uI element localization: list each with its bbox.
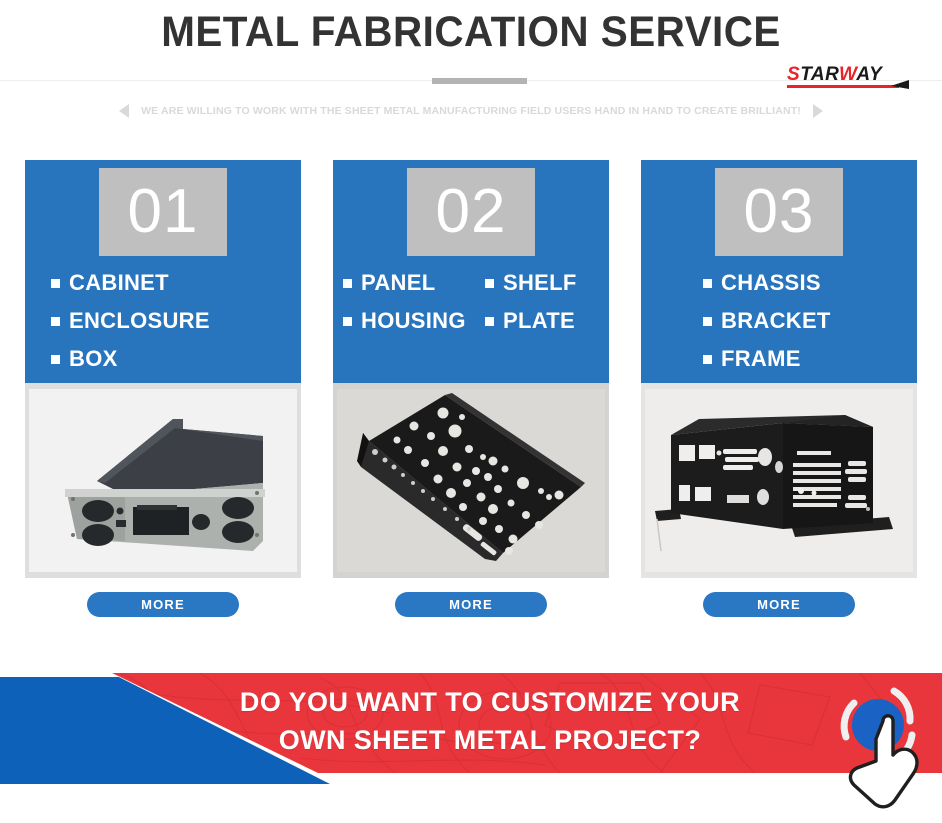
arrow-right-icon[interactable] — [813, 104, 823, 118]
feature-label: BOX — [69, 346, 118, 372]
bullet-icon — [703, 317, 712, 326]
page-root: METAL FABRICATION SERVICE STARWAY WE ARE… — [0, 0, 942, 823]
bullet-icon — [703, 355, 712, 364]
header-divider-accent — [432, 78, 527, 84]
more-button-03[interactable]: MORE — [703, 592, 855, 617]
bullet-icon — [703, 279, 712, 288]
tagline-text: WE ARE WILLING TO WORK WITH THE SHEET ME… — [141, 105, 801, 117]
page-title: METAL FABRICATION SERVICE — [28, 8, 913, 57]
card-header-01: 01 CABINET ENCLOSURE — [25, 160, 301, 383]
feature-column: CABINET ENCLOSURE BOX — [51, 264, 210, 378]
card-features-02: PANEL HOUSING SHELF — [333, 264, 609, 340]
card-number-badge-01: 01 — [99, 168, 227, 256]
feature-label: HOUSING — [361, 308, 466, 334]
feature-column: CHASSIS BRACKET FRAME — [703, 264, 831, 378]
list-item: PLATE — [485, 302, 577, 340]
bullet-icon — [343, 317, 352, 326]
card-number-03: 03 — [744, 181, 815, 243]
card-more-row-02: MORE — [333, 578, 609, 630]
logo-letter-s: S — [787, 64, 800, 85]
list-item: HOUSING — [343, 302, 485, 340]
feature-label: BRACKET — [721, 308, 831, 334]
feature-label: PLATE — [503, 308, 575, 334]
card-header-03: 03 CHASSIS BRACKET — [641, 160, 917, 383]
feature-label: CABINET — [69, 270, 169, 296]
feature-label: CHASSIS — [721, 270, 821, 296]
list-item: SHELF — [485, 264, 577, 302]
service-card-02: 02 PANEL HOUSING — [333, 160, 609, 630]
brand-logo: STARWAY — [787, 65, 912, 91]
list-item: FRAME — [703, 340, 831, 378]
click-hand-icon[interactable] — [832, 673, 942, 823]
card-number-01: 01 — [128, 181, 199, 243]
logo-letter-w: W — [839, 64, 856, 85]
tagline-bar: WE ARE WILLING TO WORK WITH THE SHEET ME… — [0, 101, 942, 121]
service-card-03: 03 CHASSIS BRACKET — [641, 160, 917, 630]
logo-letters-ay: AY — [856, 64, 882, 85]
bullet-icon — [51, 279, 60, 288]
service-cards: 01 CABINET ENCLOSURE — [25, 160, 917, 630]
more-button-01[interactable]: MORE — [87, 592, 239, 617]
card-more-row-01: MORE — [25, 578, 301, 630]
feature-label: ENCLOSURE — [69, 308, 210, 334]
feature-column: PANEL HOUSING — [343, 264, 485, 340]
list-item: CABINET — [51, 264, 210, 302]
arrow-left-icon[interactable] — [119, 104, 129, 118]
bullet-icon — [51, 355, 60, 364]
service-card-01: 01 CABINET ENCLOSURE — [25, 160, 301, 630]
product-photo-panel — [333, 383, 609, 578]
list-item: PANEL — [343, 264, 485, 302]
feature-label: PANEL — [361, 270, 435, 296]
list-item: CHASSIS — [703, 264, 831, 302]
list-item: BRACKET — [703, 302, 831, 340]
brand-logo-text: STARWAY — [787, 65, 912, 85]
card-features-03: CHASSIS BRACKET FRAME — [641, 264, 917, 378]
card-product-image-03 — [641, 383, 917, 578]
feature-label: FRAME — [721, 346, 801, 372]
cta-banner[interactable]: DO YOU WANT TO CUSTOMIZE YOUR OWN SHEET … — [0, 655, 942, 823]
cta-text: DO YOU WANT TO CUSTOMIZE YOUR OWN SHEET … — [150, 683, 830, 759]
card-product-image-02 — [333, 383, 609, 578]
product-photo-cabinet — [25, 383, 301, 578]
cta-line-1: DO YOU WANT TO CUSTOMIZE YOUR — [150, 683, 830, 721]
card-number-badge-02: 02 — [407, 168, 535, 256]
more-button-02[interactable]: MORE — [395, 592, 547, 617]
feature-label: SHELF — [503, 270, 577, 296]
card-number-02: 02 — [436, 181, 507, 243]
card-header-02: 02 PANEL HOUSING — [333, 160, 609, 383]
card-more-row-03: MORE — [641, 578, 917, 630]
bullet-icon — [485, 317, 494, 326]
bullet-icon — [343, 279, 352, 288]
list-item: BOX — [51, 340, 210, 378]
card-number-badge-03: 03 — [715, 168, 843, 256]
logo-letters-tar: TAR — [800, 64, 839, 85]
list-item: ENCLOSURE — [51, 302, 210, 340]
card-features-01: CABINET ENCLOSURE BOX — [25, 264, 301, 378]
cta-line-2: OWN SHEET METAL PROJECT? — [150, 721, 830, 759]
feature-column: SHELF PLATE — [485, 264, 577, 340]
product-photo-chassis — [641, 383, 917, 578]
card-product-image-01 — [25, 383, 301, 578]
bullet-icon — [51, 317, 60, 326]
logo-underline — [787, 85, 899, 88]
bullet-icon — [485, 279, 494, 288]
